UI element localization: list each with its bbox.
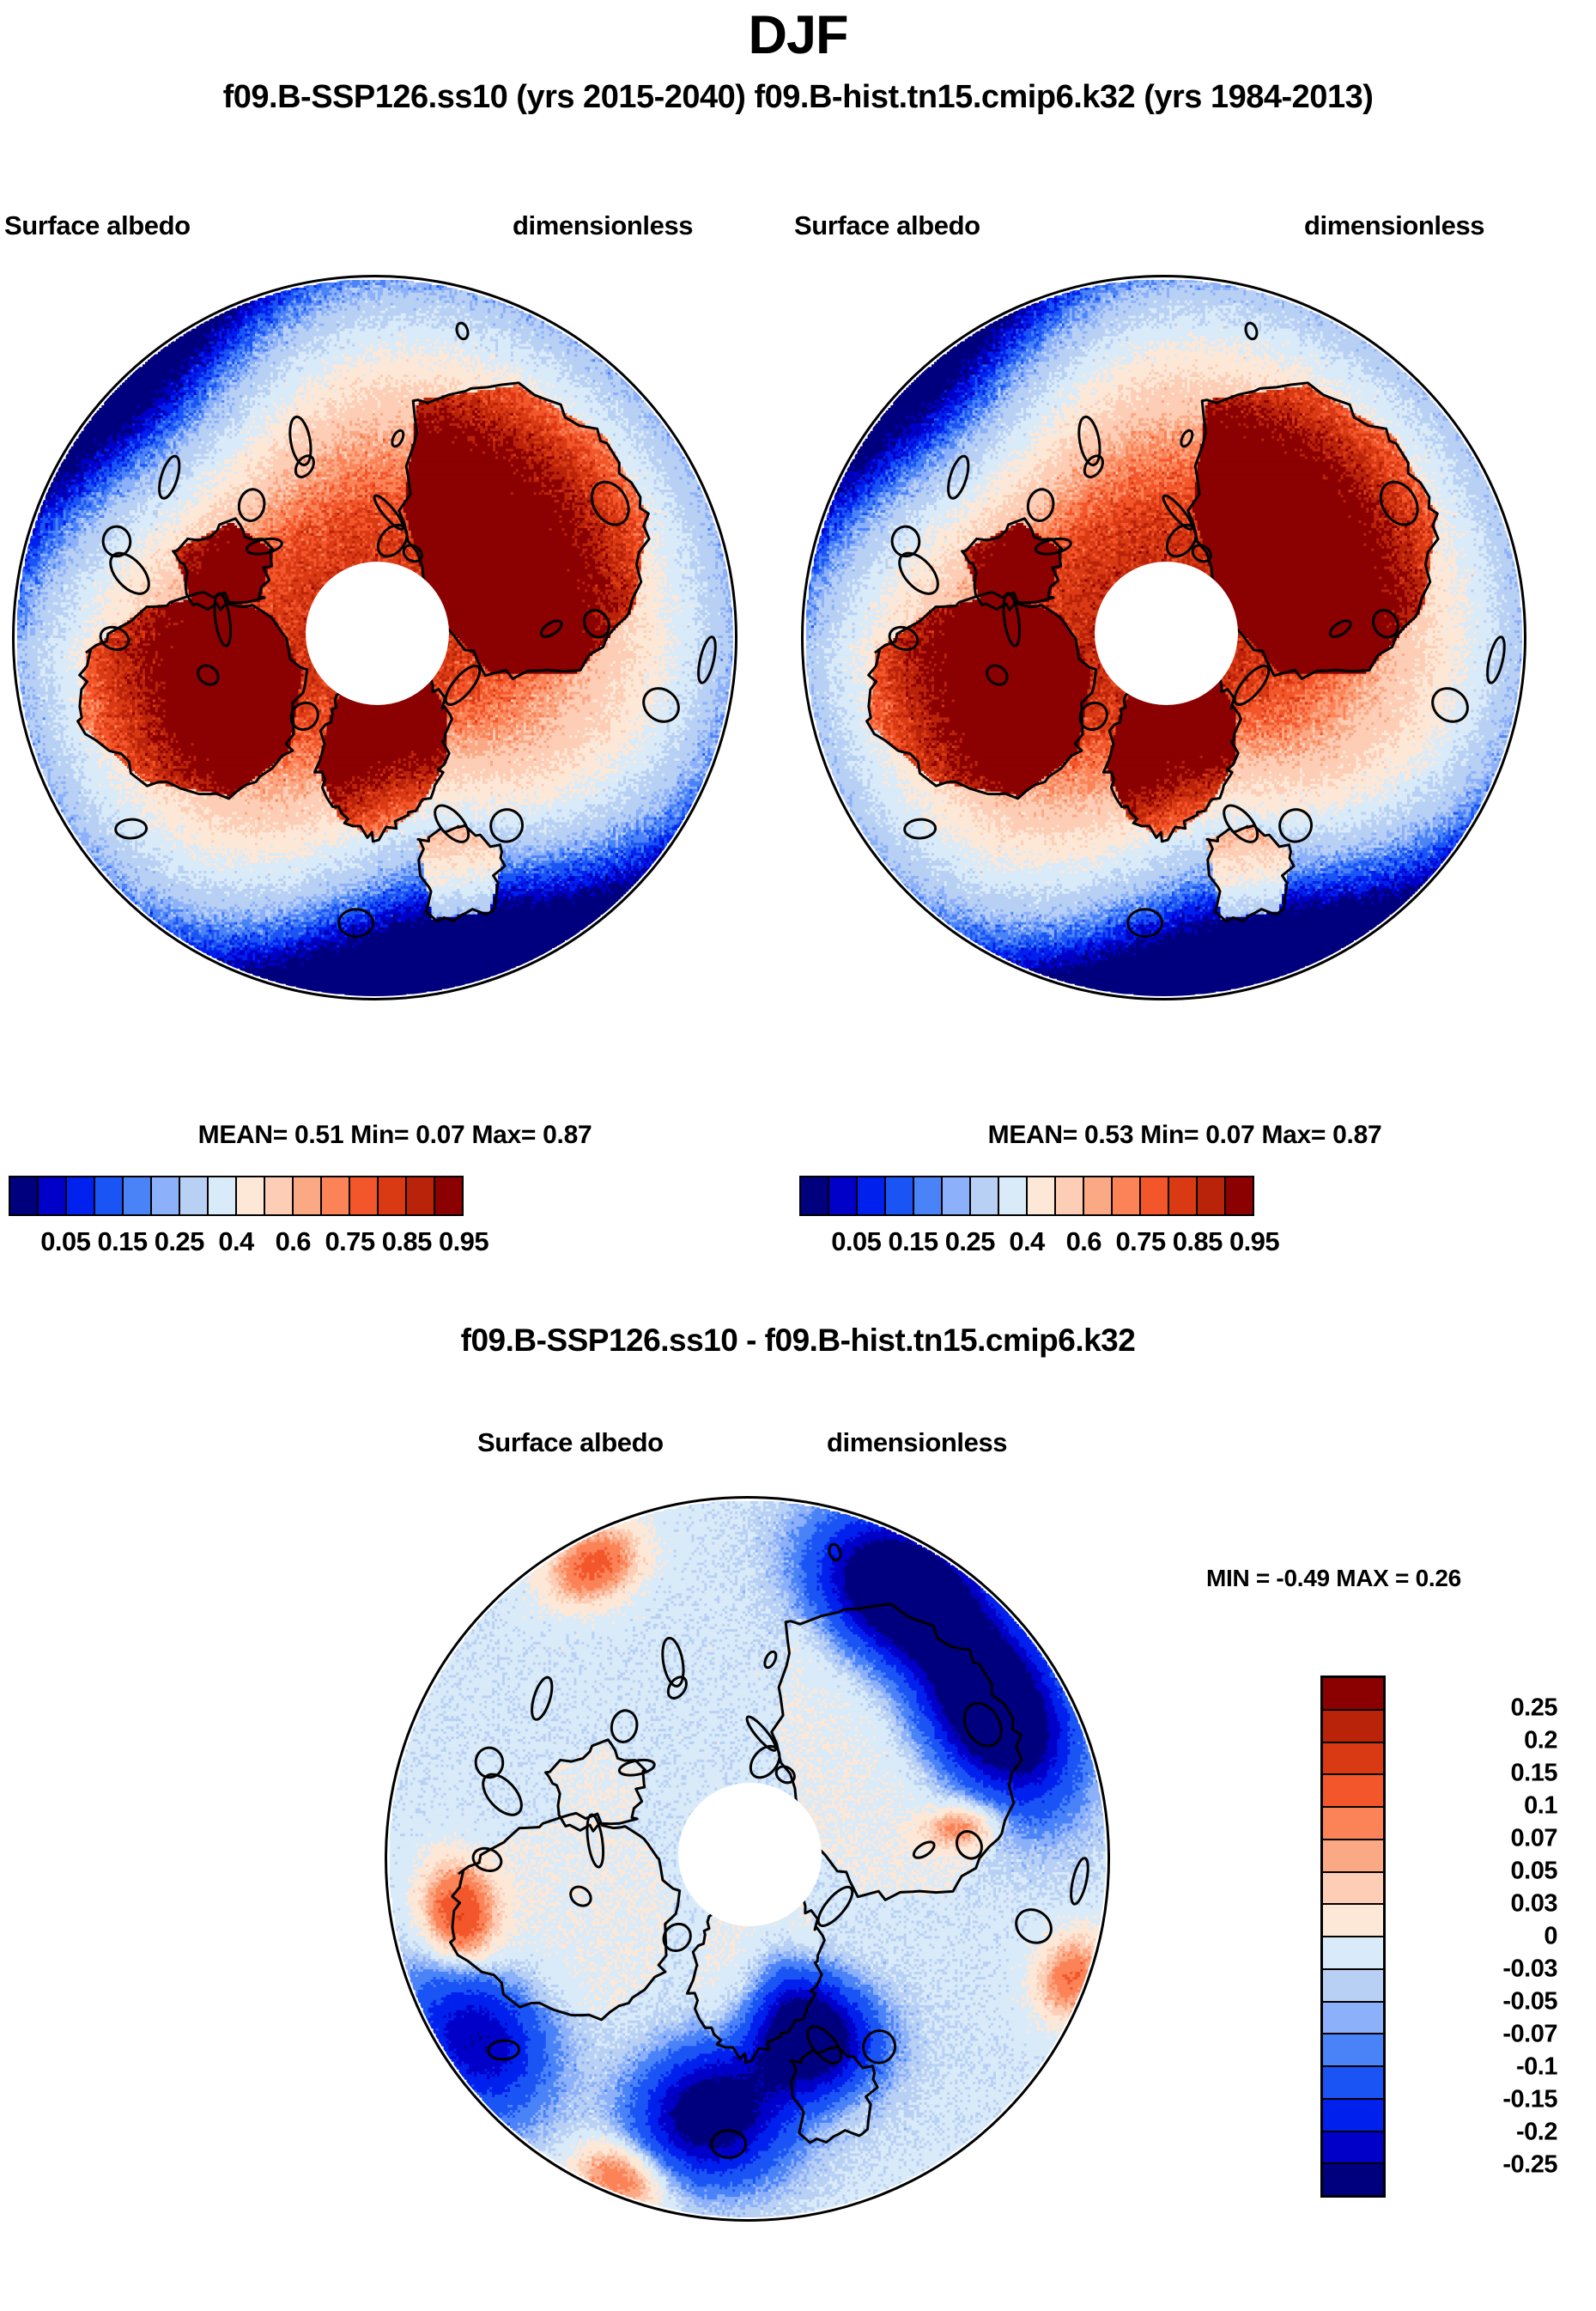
diff-colorbar-tick-6: 0.03 [1398, 1890, 1557, 1919]
colorbar-cell-2 [858, 1177, 886, 1214]
diff-colorbar-cell-10 [1323, 2003, 1383, 2035]
diff-colorbar-tick-0: 0.25 [1398, 1694, 1557, 1723]
colorbar-cell-7 [209, 1177, 237, 1214]
colorbar-difference[interactable] [1320, 1675, 1386, 2198]
colorbar-tick-7: 0.95 [439, 1226, 489, 1257]
diff-colorbar-tick-13: -0.2 [1398, 2119, 1557, 2147]
page-subtitle: f09.B-SSP126.ss10 (yrs 2015-2040) f09.B-… [0, 79, 1596, 116]
colorbar-tick-2: 0.25 [945, 1226, 995, 1257]
colorbar-cell-10 [1084, 1177, 1113, 1214]
colorbar-cell-10 [294, 1177, 322, 1214]
colorbar-tick-0: 0.05 [831, 1226, 881, 1257]
colorbar-tick-7: 0.95 [1229, 1226, 1279, 1257]
colorbar-tick-1: 0.15 [98, 1226, 148, 1257]
colorbar-cell-8 [1028, 1177, 1056, 1214]
colorbar-cell-7 [999, 1177, 1028, 1214]
diff-colorbar-cell-11 [1323, 2034, 1383, 2067]
colorbar-cell-1 [39, 1177, 67, 1214]
diff-minmax-annotation: MIN = -0.49 MAX = 0.26 [1206, 1565, 1584, 1592]
diff-colorbar-tick-7: 0 [1398, 1923, 1557, 1951]
diff-colorbar-tick-11: -0.1 [1398, 2053, 1557, 2082]
diff-colorbar-tick-2: 0.15 [1398, 1760, 1557, 1788]
panel2-variable-label: Surface albedo [794, 210, 980, 241]
colorbar-tick-5: 0.75 [325, 1226, 375, 1257]
diff-variable-label: Surface albedo [477, 1427, 664, 1458]
colorbar-tick-4: 0.6 [1066, 1226, 1101, 1257]
colorbar-tick-4: 0.6 [276, 1226, 311, 1257]
colorbar-cell-12 [350, 1177, 379, 1214]
colorbar-cell-14 [407, 1177, 435, 1214]
diff-colorbar-tick-3: 0.1 [1398, 1792, 1557, 1821]
diff-colorbar-cell-12 [1323, 2067, 1383, 2100]
panel1-variable-label: Surface albedo [4, 210, 191, 241]
diff-colorbar-cell-13 [1323, 2100, 1383, 2132]
colorbar-tick-0: 0.05 [40, 1226, 90, 1257]
page-title: DJF [0, 4, 1596, 66]
diff-colorbar-tick-4: 0.07 [1398, 1825, 1557, 1853]
diff-colorbar-tick-8: -0.03 [1398, 1955, 1557, 1984]
pole-hole-1 [306, 562, 449, 705]
colorbar-panel2-labels: 0.050.150.250.40.60.750.850.95 [799, 1226, 1254, 1264]
diff-colorbar-cell-2 [1323, 1743, 1383, 1776]
colorbar-cell-13 [1169, 1177, 1198, 1214]
colorbar-cell-3 [95, 1177, 124, 1214]
diff-colorbar-cell-8 [1323, 1937, 1383, 1970]
colorbar-cell-4 [914, 1177, 943, 1214]
colorbar-cell-6 [180, 1177, 209, 1214]
colorbar-cell-13 [379, 1177, 407, 1214]
polar-map-ssp126[interactable] [12, 275, 737, 1000]
colorbar-cell-9 [265, 1177, 294, 1214]
colorbar-cell-5 [152, 1177, 180, 1214]
colorbar-cell-6 [971, 1177, 999, 1214]
panel2-stats: MEAN= 0.53 Min= 0.07 Max= 0.87 [841, 1121, 1528, 1150]
colorbar-panel1[interactable] [9, 1176, 464, 1216]
colorbar-cell-14 [1198, 1177, 1226, 1214]
colorbar-cell-9 [1056, 1177, 1084, 1214]
diff-colorbar-tick-1: 0.2 [1398, 1727, 1557, 1755]
colorbar-cell-8 [237, 1177, 265, 1214]
colorbar-tick-2: 0.25 [155, 1226, 204, 1257]
colorbar-tick-6: 0.85 [382, 1226, 432, 1257]
diff-colorbar-cell-3 [1323, 1775, 1383, 1808]
colorbar-panel2[interactable] [799, 1176, 1254, 1216]
colorbar-tick-6: 0.85 [1173, 1226, 1223, 1257]
diff-colorbar-tick-5: 0.05 [1398, 1858, 1557, 1886]
colorbar-cell-2 [67, 1177, 95, 1214]
colorbar-tick-3: 0.4 [218, 1226, 253, 1257]
pole-hole-2 [1095, 562, 1238, 705]
colorbar-cell-0 [10, 1177, 39, 1214]
colorbar-cell-11 [1113, 1177, 1141, 1214]
colorbar-cell-1 [829, 1177, 858, 1214]
pole-hole-3 [678, 1783, 822, 1926]
colorbar-cell-0 [801, 1177, 829, 1214]
colorbar-tick-5: 0.75 [1116, 1226, 1166, 1257]
diff-colorbar-cell-4 [1323, 1808, 1383, 1840]
diff-colorbar-tick-9: -0.05 [1398, 1988, 1557, 2016]
diff-colorbar-cell-0 [1323, 1678, 1383, 1711]
polar-map-hist[interactable] [801, 275, 1526, 1000]
diff-colorbar-tick-10: -0.07 [1398, 2021, 1557, 2049]
diff-colorbar-cell-14 [1323, 2132, 1383, 2165]
colorbar-panel1-labels: 0.050.150.250.40.60.750.850.95 [9, 1226, 464, 1264]
polar-map-difference[interactable] [385, 1496, 1110, 2222]
diff-colorbar-tick-12: -0.15 [1398, 2086, 1557, 2114]
diff-units-label: dimensionless [827, 1427, 1007, 1458]
diff-colorbar-cell-6 [1323, 1873, 1383, 1906]
colorbar-tick-1: 0.15 [889, 1226, 938, 1257]
colorbar-cell-12 [1141, 1177, 1169, 1214]
diff-colorbar-cell-9 [1323, 1970, 1383, 2003]
diff-colorbar-cell-1 [1323, 1711, 1383, 1743]
colorbar-cell-11 [322, 1177, 350, 1214]
panel2-units-label: dimensionless [1304, 210, 1484, 241]
colorbar-tick-3: 0.4 [1009, 1226, 1044, 1257]
colorbar-difference-labels: 0.250.20.150.10.070.050.030-0.03-0.05-0.… [1398, 1675, 1578, 2198]
diff-colorbar-cell-7 [1323, 1905, 1383, 1937]
colorbar-cell-4 [124, 1177, 152, 1214]
colorbar-cell-15 [1226, 1177, 1253, 1214]
colorbar-cell-5 [943, 1177, 971, 1214]
diff-colorbar-tick-14: -0.25 [1398, 2151, 1557, 2180]
panel1-units-label: dimensionless [513, 210, 693, 241]
panel1-stats: MEAN= 0.51 Min= 0.07 Max= 0.87 [52, 1121, 738, 1150]
diff-colorbar-cell-15 [1323, 2164, 1383, 2195]
colorbar-cell-3 [886, 1177, 914, 1214]
colorbar-cell-15 [435, 1177, 462, 1214]
diff-colorbar-cell-5 [1323, 1840, 1383, 1873]
difference-title: f09.B-SSP126.ss10 - f09.B-hist.tn15.cmip… [0, 1323, 1596, 1359]
